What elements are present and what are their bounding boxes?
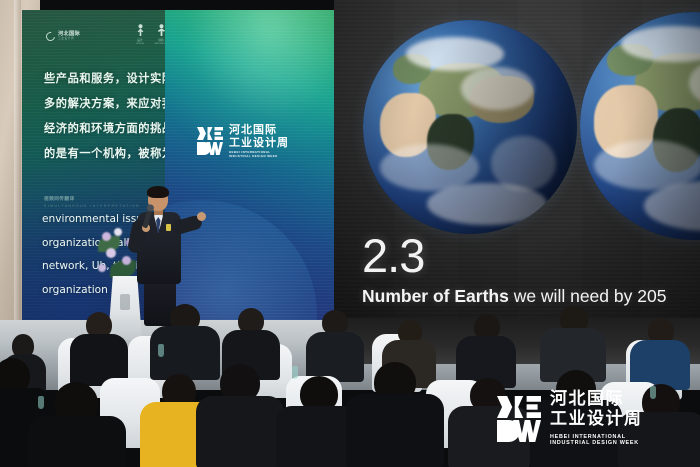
slide-big-number: 2.3: [362, 232, 424, 279]
watermark-logo-cn-line2: 工业设计周: [550, 411, 643, 429]
projection-screen: 2.3 Number of Earths we will need by 205: [334, 0, 700, 322]
water-bottle: [650, 386, 656, 399]
water-bottle: [38, 396, 44, 409]
watermark-logo-cn-line1: 河北国际: [550, 391, 643, 409]
organizer-logo-en: 工业设计周: [58, 38, 80, 41]
backdrop-logo-en-line2: INDUSTRIAL DESIGN WEEK: [229, 155, 289, 159]
pictogram-caption-en: DESIGN: [136, 43, 144, 45]
watermark-logo-en-line2: INDUSTRIAL DESIGN WEEK: [550, 440, 643, 447]
backdrop-logo-cn-line1: 河北国际: [229, 124, 289, 136]
screenshot-root: 河北国际 工业设计周 设计 DESIGN: [0, 0, 700, 467]
person-pictogram-icon: [135, 24, 146, 37]
backdrop-logo-cn-line2: 工业设计周: [229, 137, 289, 149]
pictogram-caption: 设计: [137, 38, 143, 42]
water-bottle: [158, 344, 164, 357]
pictogram-group: 设计 DESIGN 创新 INNOVATION: [134, 24, 167, 45]
watermark-event-logo: 河北国际 工业设计周 HEBEI INTERNATIONAL INDUSTRIA…: [497, 391, 643, 447]
organizer-logo: 河北国际 工业设计周: [46, 32, 80, 41]
hidw-monogram-icon: [197, 127, 223, 155]
watermark-logo-en-line1: HEBEI INTERNATIONAL: [550, 434, 643, 441]
backdrop-event-logo: 河北国际 工业设计周 HEBEI INTERNATIONAL INDUSTRIA…: [197, 124, 289, 158]
water-bottle: [292, 366, 298, 379]
speaker-lapel-badge: [166, 224, 171, 231]
hidw-monogram-icon: [497, 396, 541, 442]
circular-arc-logo-icon: [44, 30, 57, 43]
pictogram-caption: 创新: [158, 38, 164, 42]
pictogram-item: 设计 DESIGN: [134, 24, 146, 45]
